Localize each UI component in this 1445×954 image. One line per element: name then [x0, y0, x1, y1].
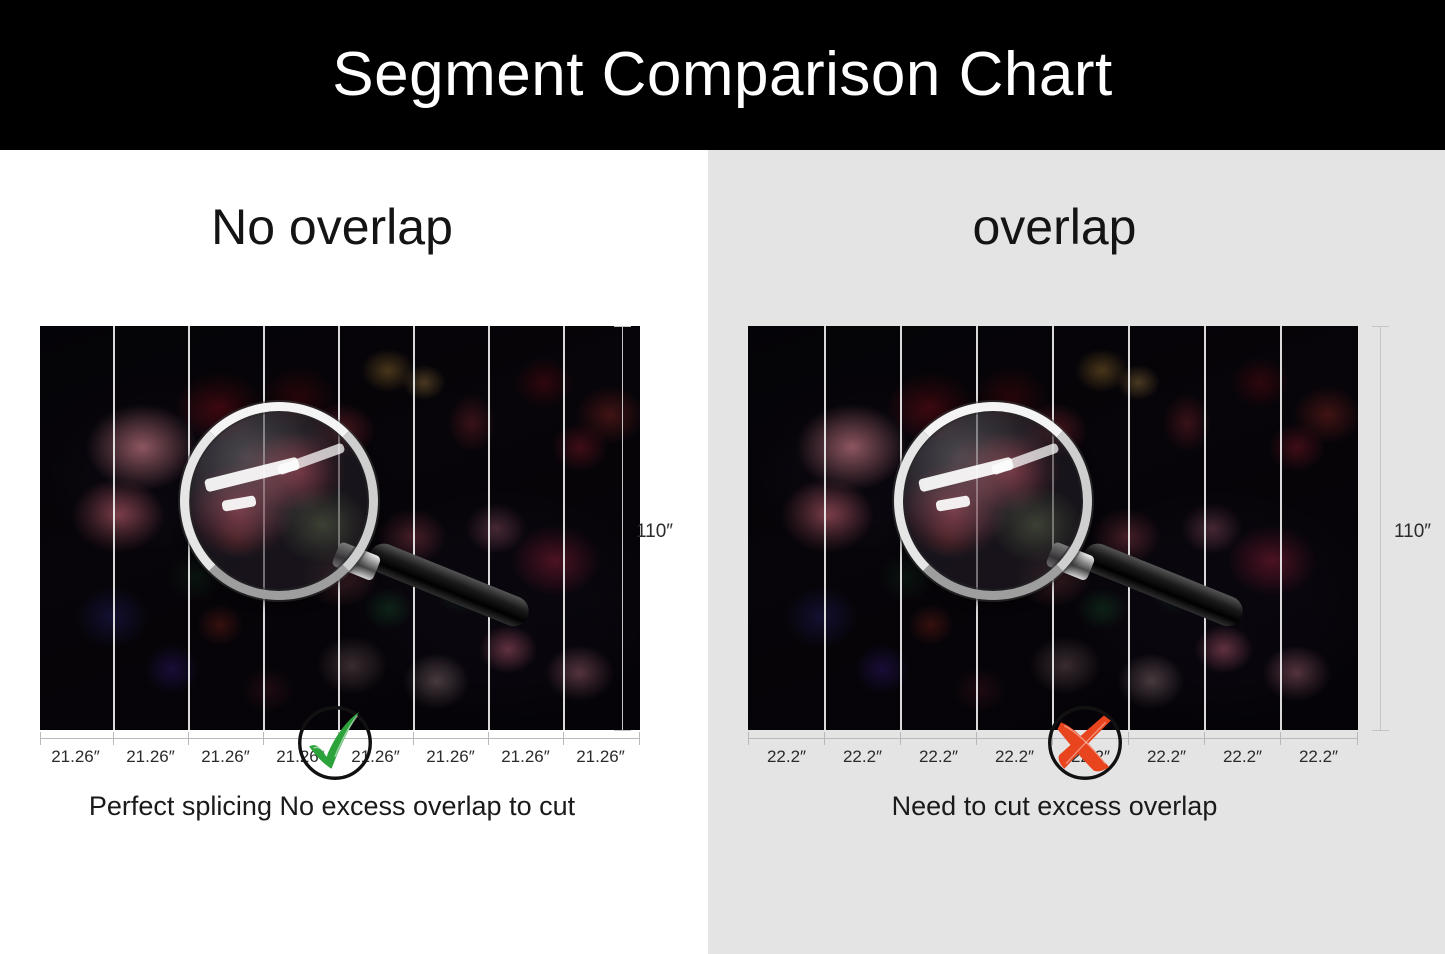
seam-line: [900, 326, 902, 730]
height-label-right: 110″: [1394, 522, 1431, 541]
check-mark-icon: [292, 700, 378, 786]
dimension-tick: [1280, 732, 1281, 745]
panel-heading-right: overlap: [686, 202, 1423, 252]
dimension-tick: [40, 732, 41, 745]
height-dimension-cap-bottom: [1372, 730, 1389, 731]
seam-line: [263, 326, 265, 730]
seam-line: [1204, 326, 1206, 730]
dimension-tick: [748, 732, 749, 745]
seam-line: [1280, 326, 1282, 730]
height-dimension-line-right: [1380, 326, 1381, 730]
mural-preview-right: [748, 326, 1358, 730]
dimension-tick: [188, 732, 189, 745]
mural-preview-left: [40, 326, 640, 730]
seam-line: [113, 326, 115, 730]
dimension-tick: [639, 732, 640, 745]
segment-label: 22.2″: [1266, 748, 1371, 765]
dimension-tick: [1128, 732, 1129, 745]
seam-line: [563, 326, 565, 730]
caption-left: Perfect splicing No excess overlap to cu…: [0, 793, 686, 820]
seam-line: [188, 326, 190, 730]
height-dimension-line-left: [622, 326, 623, 730]
floral-mural-image-left: [40, 326, 640, 730]
seam-line: [976, 326, 978, 730]
dimension-tick: [976, 732, 977, 745]
dimension-tick: [488, 732, 489, 745]
caption-right: Need to cut excess overlap: [686, 793, 1423, 820]
panel-overlap: overlap 110″ 22.2″ 22.2″ 22.2: [708, 150, 1445, 954]
seam-line: [824, 326, 826, 730]
dimension-tick: [900, 732, 901, 745]
page-title: Segment Comparison Chart: [332, 44, 1112, 106]
panel-no-overlap: No overlap 110″ 2: [0, 150, 708, 954]
segment-label: 21.26″: [548, 748, 653, 765]
height-dimension-cap-top: [1372, 326, 1389, 327]
dimension-tick: [824, 732, 825, 745]
dimension-tick: [263, 732, 264, 745]
seam-line: [338, 326, 340, 730]
panel-heading-left: No overlap: [0, 202, 686, 252]
seam-line: [413, 326, 415, 730]
dimension-tick: [413, 732, 414, 745]
dimension-tick: [1357, 732, 1358, 745]
height-dimension-cap-top: [614, 326, 631, 327]
height-dimension-cap-bottom: [614, 730, 631, 731]
seam-line: [488, 326, 490, 730]
seam-line: [1052, 326, 1054, 730]
dimension-tick: [113, 732, 114, 745]
seam-line: [1128, 326, 1130, 730]
cross-mark-icon: [1042, 700, 1128, 786]
title-banner: Segment Comparison Chart: [0, 0, 1445, 150]
height-label-left: 110″: [636, 522, 673, 541]
dimension-tick: [1204, 732, 1205, 745]
dimension-tick: [563, 732, 564, 745]
